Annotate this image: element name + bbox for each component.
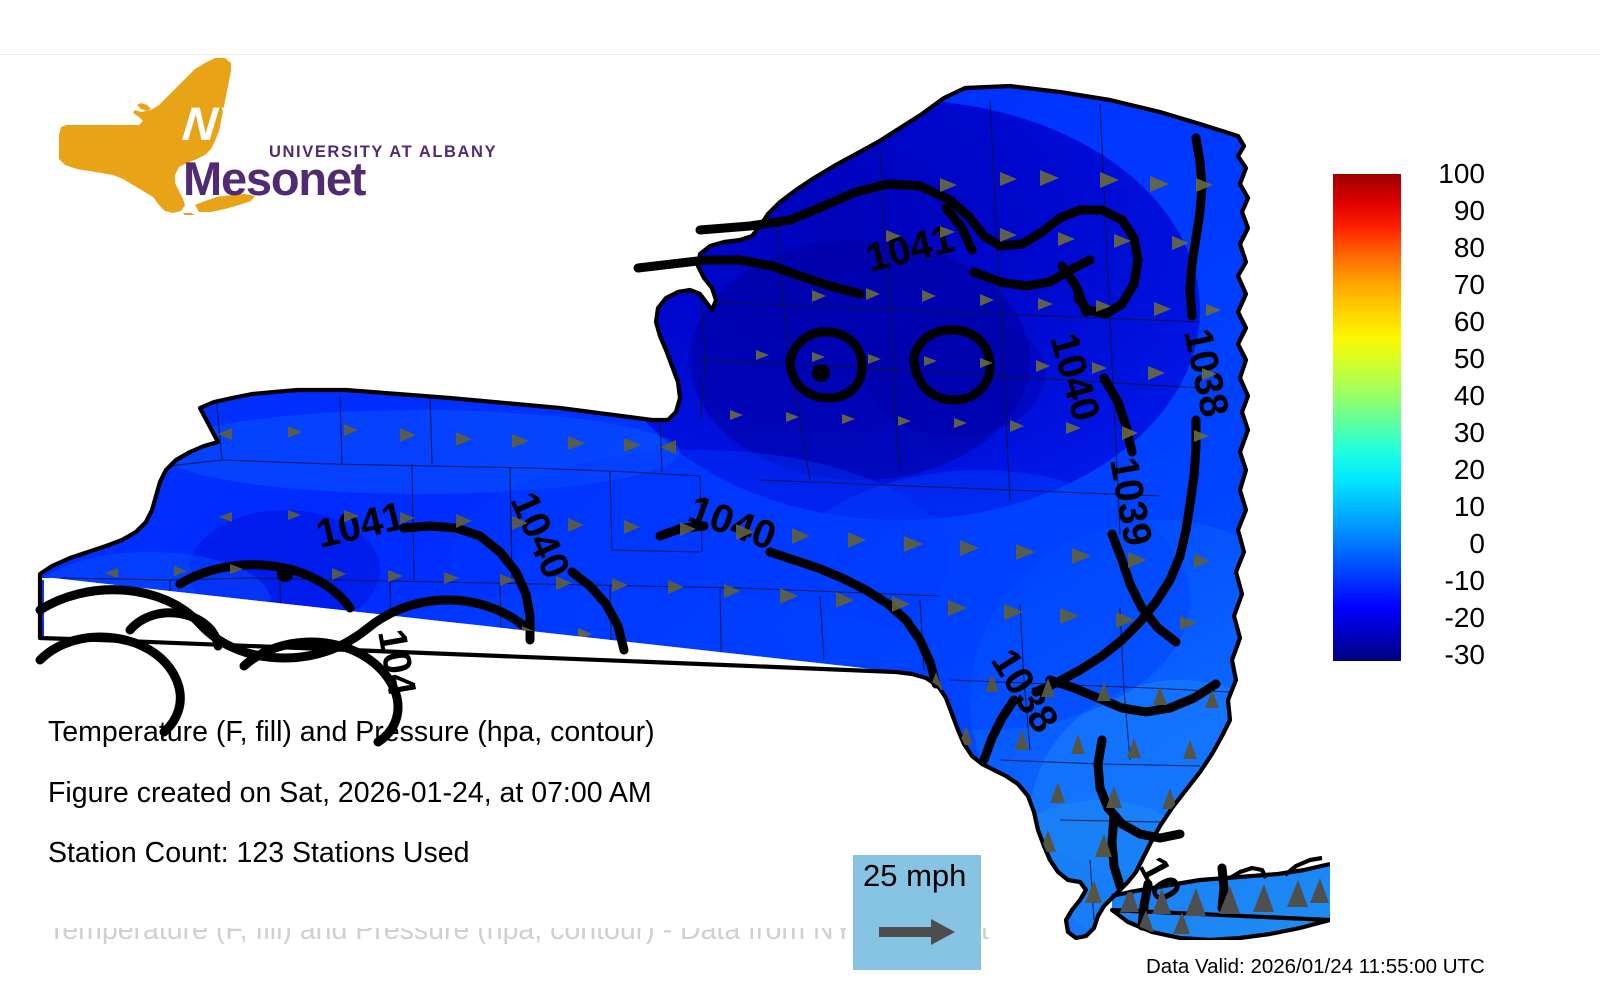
temperature-colorbar — [1333, 174, 1401, 661]
colorbar-tick: -10 — [1405, 567, 1485, 595]
caption-clipped-line: Temperature (F, fill) and Pressure (hpa,… — [48, 928, 1428, 944]
colorbar-tick-labels: 100 90 80 70 60 50 40 30 20 10 0 -10 -20… — [1405, 160, 1485, 680]
colorbar-tick: 10 — [1405, 493, 1485, 521]
colorbar-tick: 20 — [1405, 456, 1485, 484]
figure-caption-block: Temperature (F, fill) and Pressure (hpa,… — [48, 718, 828, 900]
colorbar-tick: 80 — [1405, 234, 1485, 262]
high-center-marker — [812, 364, 830, 382]
colorbar-tick: 50 — [1405, 345, 1485, 373]
colorbar-tick: 60 — [1405, 308, 1485, 336]
colorbar-gradient — [1333, 174, 1401, 661]
colorbar-tick: 40 — [1405, 382, 1485, 410]
map-figure-canvas: NYSMesonet UNIVERSITY AT ALBANY — [0, 0, 1600, 1000]
colorbar-tick: 0 — [1405, 530, 1485, 558]
right-arrow-icon — [879, 917, 959, 952]
caption-variables: Temperature (F, fill) and Pressure (hpa,… — [48, 718, 828, 747]
high-center-marker — [277, 566, 293, 582]
colorbar-tick: 70 — [1405, 271, 1485, 299]
colorbar-tick: -30 — [1405, 641, 1485, 669]
caption-clipped-text: Temperature (F, fill) and Pressure (hpa,… — [48, 928, 1428, 944]
caption-created-time: Figure created on Sat, 2026-01-24, at 07… — [48, 779, 828, 808]
data-valid-timestamp: Data Valid: 2026/01/24 11:55:00 UTC — [1146, 955, 1485, 979]
colorbar-tick: 90 — [1405, 197, 1485, 225]
wind-speed-key-label: 25 mph — [863, 859, 966, 893]
colorbar-tick: -20 — [1405, 604, 1485, 632]
caption-station-count: Station Count: 123 Stations Used — [48, 839, 828, 868]
contour-label: 104 — [369, 626, 424, 700]
colorbar-tick: 30 — [1405, 419, 1485, 447]
contour-li-fragment — [1222, 868, 1224, 908]
wind-speed-key: 25 mph — [853, 855, 981, 970]
colorbar-tick: 100 — [1405, 160, 1485, 188]
